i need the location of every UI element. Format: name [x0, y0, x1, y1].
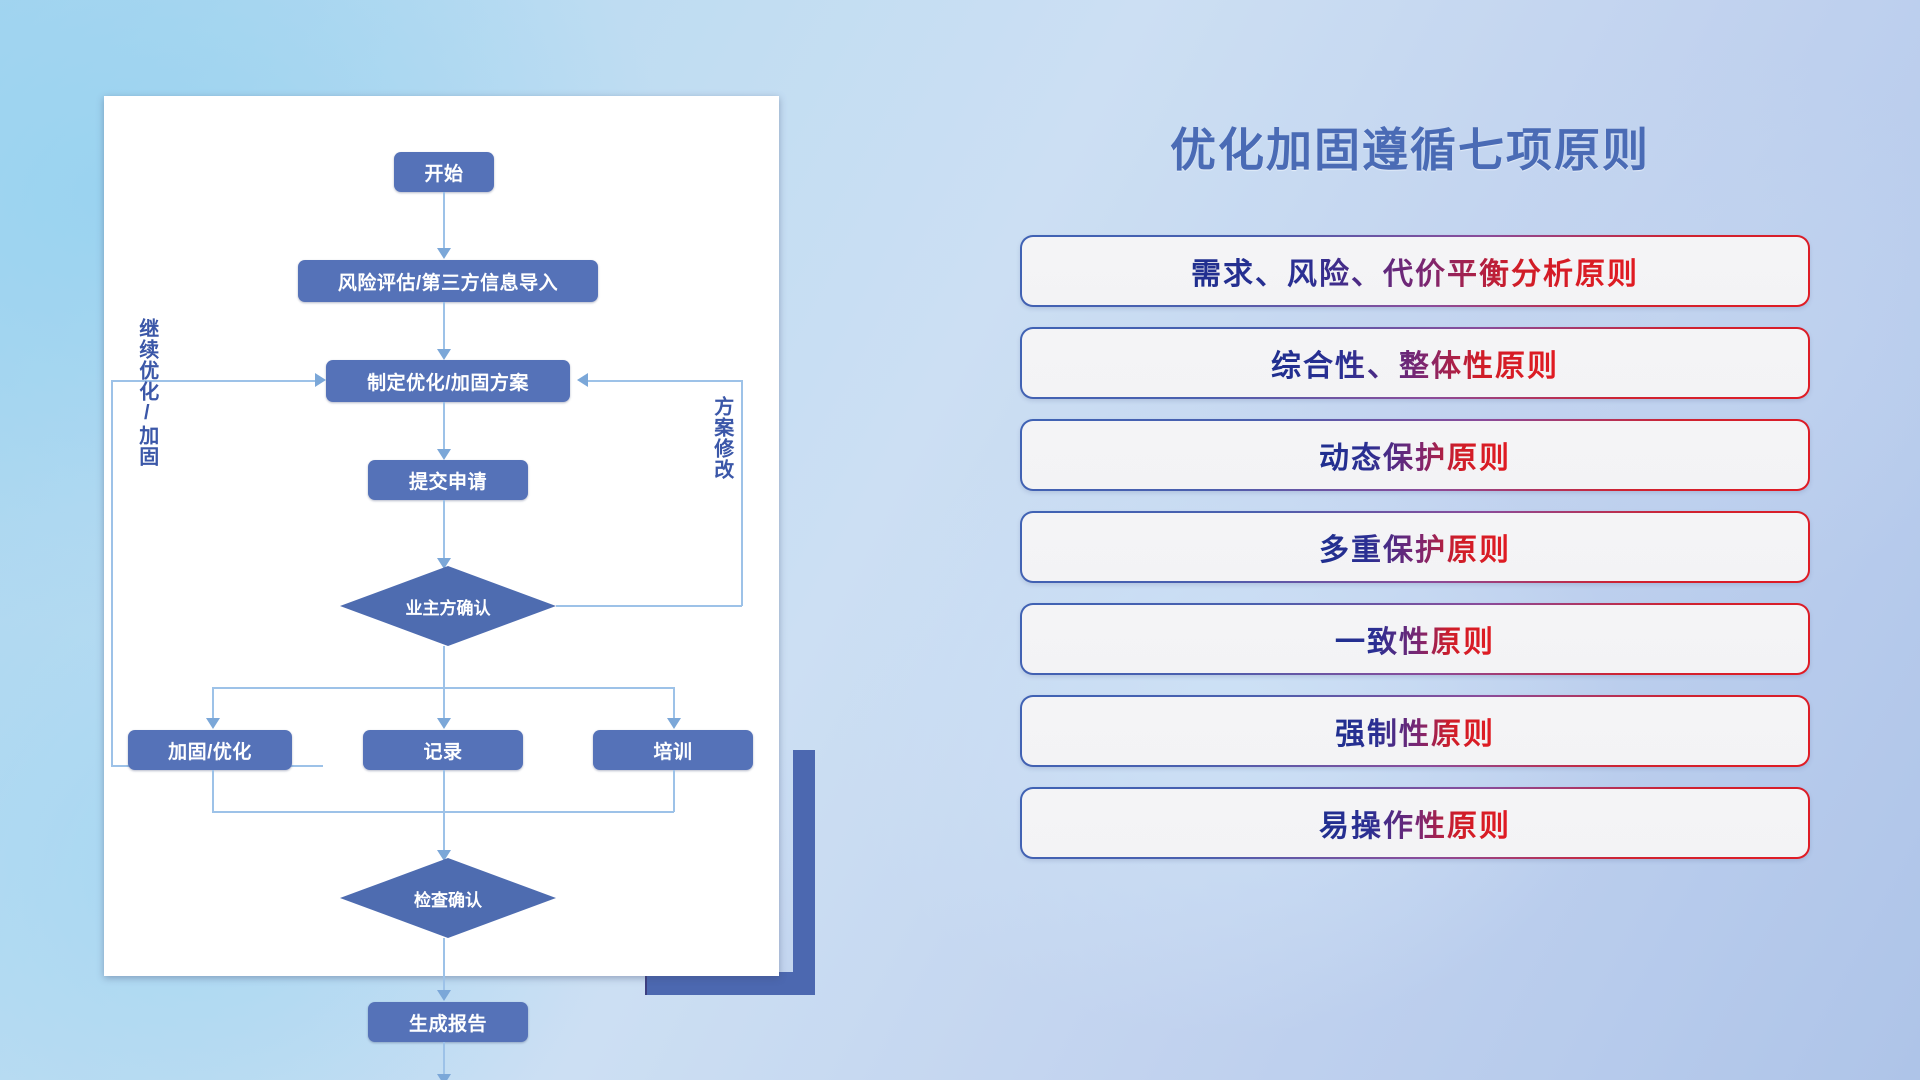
principle-card[interactable]: 易操作性原则 — [1020, 787, 1810, 859]
connector-right-loop-from-owner — [556, 605, 742, 607]
edge-label-plan-revision: 方案修改 — [711, 396, 732, 480]
principle-label: 一致性原则 — [1335, 617, 1495, 661]
principle-label: 需求、风险、代价平衡分析原则 — [1191, 249, 1639, 293]
principle-card[interactable]: 多重保护原则 — [1020, 511, 1810, 583]
flow-node-record[interactable]: 记录 — [363, 730, 523, 770]
connector-right-loop-top — [588, 380, 742, 382]
principle-card[interactable]: 强制性原则 — [1020, 695, 1810, 767]
principle-card[interactable]: 动态保护原则 — [1020, 419, 1810, 491]
principle-label: 多重保护原则 — [1319, 525, 1511, 569]
connector-left-loop-vertical — [111, 380, 113, 766]
principle-card[interactable]: 需求、风险、代价平衡分析原则 — [1020, 235, 1810, 307]
connector-risk-to-plan — [443, 302, 445, 355]
connector-start-to-risk — [443, 192, 445, 254]
principle-card[interactable]: 综合性、整体性原则 — [1020, 327, 1810, 399]
arrow-plan-to-submit — [437, 449, 451, 460]
arrow-report-to-end — [437, 1074, 451, 1080]
connector-reinforce-down — [212, 770, 214, 812]
principle-list: 需求、风险、代价平衡分析原则 综合性、整体性原则 动态保护原则 多重保护原则 一… — [1020, 235, 1810, 879]
flow-node-report[interactable]: 生成报告 — [368, 1002, 528, 1042]
arrow-to-training — [667, 718, 681, 729]
panel-title: 优化加固遵循七项原则 — [1020, 114, 1800, 180]
flow-node-start[interactable]: 开始 — [394, 152, 494, 192]
connector-check-to-report — [443, 938, 445, 996]
flow-node-reinforce[interactable]: 加固/优化 — [128, 730, 292, 770]
connector-plan-to-submit — [443, 402, 445, 455]
connector-record-down — [443, 770, 445, 856]
flowchart-card: 开始 风险评估/第三方信息导入 制定优化/加固方案 提交申请 业主方确认 继续优… — [104, 96, 779, 976]
principle-card[interactable]: 一致性原则 — [1020, 603, 1810, 675]
flow-decision-check-confirm[interactable]: 检查确认 — [340, 858, 556, 938]
arrow-to-reinforce — [206, 718, 220, 729]
connector-merge-bus — [212, 811, 674, 813]
principle-label: 易操作性原则 — [1319, 801, 1511, 845]
edge-label-continue-optimize: 继续优化/加固 — [136, 318, 157, 467]
principle-label: 动态保护原则 — [1319, 433, 1511, 477]
connector-owner-down — [443, 646, 445, 688]
flow-decision-owner-confirm[interactable]: 业主方确认 — [340, 566, 556, 646]
arrow-left-loop-into-plan — [315, 373, 326, 387]
connector-submit-to-owner — [443, 500, 445, 564]
flow-node-risk-assessment[interactable]: 风险评估/第三方信息导入 — [298, 260, 598, 302]
arrow-right-loop-into-plan — [577, 373, 588, 387]
principle-label: 综合性、整体性原则 — [1271, 341, 1559, 385]
arrow-start-to-risk — [437, 248, 451, 259]
flow-node-plan[interactable]: 制定优化/加固方案 — [326, 360, 570, 402]
principles-panel: 优化加固遵循七项原则 需求、风险、代价平衡分析原则 综合性、整体性原则 动态保护… — [1020, 90, 1830, 1010]
slide-canvas: 开始 风险评估/第三方信息导入 制定优化/加固方案 提交申请 业主方确认 继续优… — [0, 0, 1920, 1080]
flow-node-training[interactable]: 培训 — [593, 730, 753, 770]
connector-training-down — [673, 770, 675, 812]
connector-right-loop-vertical — [741, 380, 743, 606]
arrow-to-record — [437, 718, 451, 729]
arrow-risk-to-plan — [437, 349, 451, 360]
flow-node-submit[interactable]: 提交申请 — [368, 460, 528, 500]
principle-label: 强制性原则 — [1335, 709, 1495, 753]
arrow-check-to-report — [437, 990, 451, 1001]
